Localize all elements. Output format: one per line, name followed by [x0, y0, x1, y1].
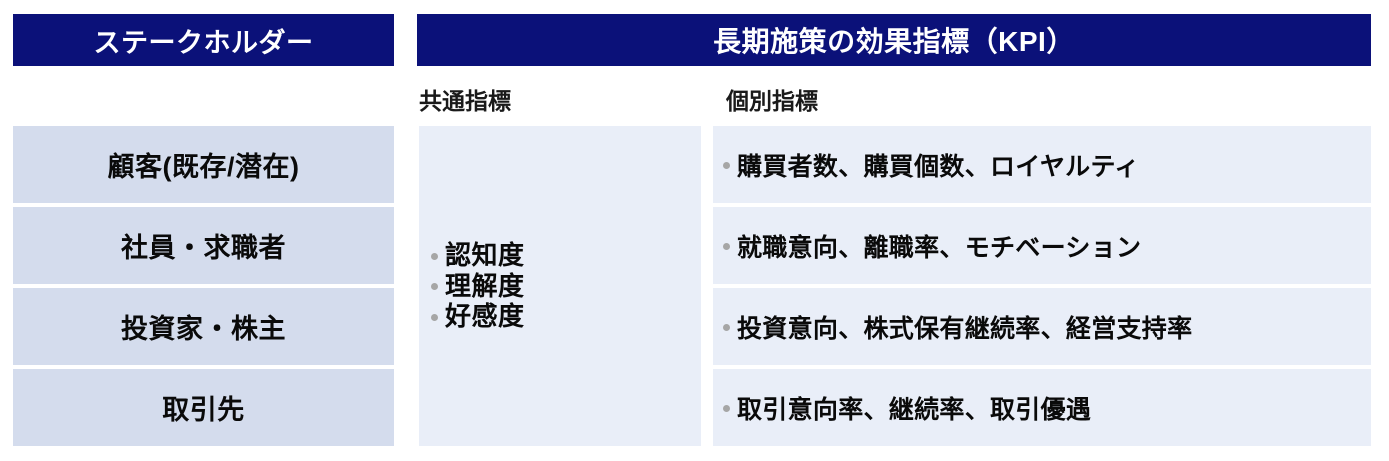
- individual-indicator-row: 取引意向率、継続率、取引優遇: [713, 369, 1371, 446]
- stakeholder-label: 取引先: [162, 388, 245, 427]
- bullet-icon: [723, 162, 730, 169]
- stakeholder-header: ステークホルダー: [13, 14, 394, 66]
- individual-indicator-label: 個別指標: [726, 82, 818, 116]
- stakeholder-label: 顧客(既存/潜在): [108, 145, 300, 184]
- stakeholder-row: 投資家・株主: [13, 288, 394, 365]
- stakeholder-column: 顧客(既存/潜在) 社員・求職者 投資家・株主 取引先: [13, 126, 394, 446]
- common-indicators-list: 認知度 理解度 好感度: [431, 240, 701, 332]
- individual-indicator-row: 購買者数、購買個数、ロイヤルティ: [713, 126, 1371, 203]
- common-indicators-box: 認知度 理解度 好感度: [419, 126, 701, 446]
- individual-indicator-text: 投資意向、株式保有継続率、経営支持率: [737, 309, 1192, 345]
- kpi-header: 長期施策の効果指標（KPI）: [417, 14, 1371, 66]
- stakeholder-label: 投資家・株主: [121, 307, 286, 346]
- bullet-icon: [431, 253, 438, 260]
- list-item: 好感度: [431, 301, 701, 332]
- common-indicator-label: 共通指標: [419, 82, 511, 116]
- individual-indicator-row: 就職意向、離職率、モチベーション: [713, 207, 1371, 284]
- individual-indicator-text: 取引意向率、継続率、取引優遇: [737, 390, 1091, 426]
- individual-indicators-column: 購買者数、購買個数、ロイヤルティ 就職意向、離職率、モチベーション 投資意向、株…: [713, 126, 1371, 446]
- common-indicator-text: 認知度: [445, 240, 525, 271]
- individual-indicator-text: 就職意向、離職率、モチベーション: [737, 228, 1141, 264]
- stakeholder-row: 社員・求職者: [13, 207, 394, 284]
- kpi-matrix-slide: ステークホルダー 長期施策の効果指標（KPI） 共通指標 個別指標 顧客(既存/…: [0, 0, 1389, 461]
- bullet-icon: [723, 243, 730, 250]
- list-item: 認知度: [431, 240, 701, 271]
- bullet-icon: [723, 324, 730, 331]
- stakeholder-row: 取引先: [13, 369, 394, 446]
- individual-indicator-row: 投資意向、株式保有継続率、経営支持率: [713, 288, 1371, 365]
- common-indicator-text: 好感度: [445, 301, 525, 332]
- list-item: 理解度: [431, 271, 701, 302]
- kpi-header-label: 長期施策の効果指標（KPI）: [713, 20, 1075, 60]
- bullet-icon: [431, 283, 438, 290]
- stakeholder-label: 社員・求職者: [121, 226, 286, 265]
- common-indicator-text: 理解度: [445, 271, 525, 302]
- bullet-icon: [723, 405, 730, 412]
- individual-indicator-text: 購買者数、購買個数、ロイヤルティ: [737, 147, 1140, 183]
- stakeholder-row: 顧客(既存/潜在): [13, 126, 394, 203]
- bullet-icon: [431, 314, 438, 321]
- stakeholder-header-label: ステークホルダー: [94, 21, 314, 60]
